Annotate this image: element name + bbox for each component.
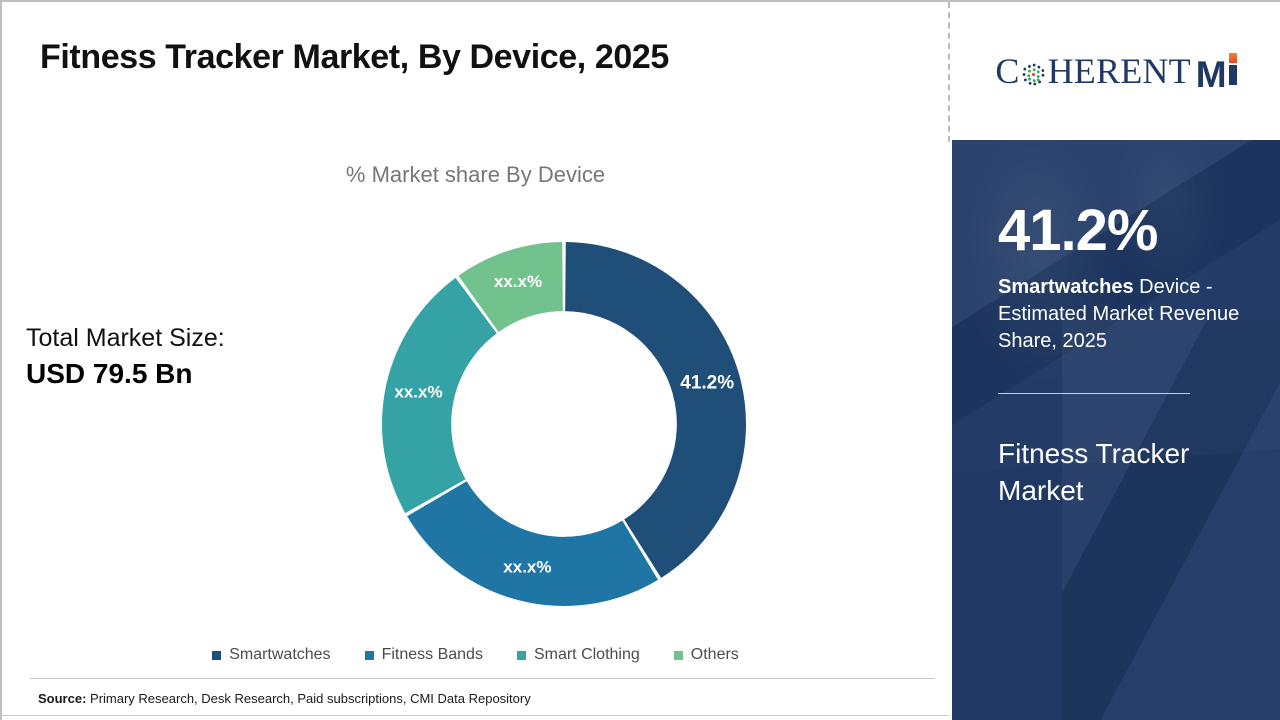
legend-swatch (212, 651, 221, 660)
legend-swatch (365, 651, 374, 660)
total-market-size-value: USD 79.5 Bn (26, 357, 225, 390)
donut-chart-svg: 41.2%xx.x%xx.x%xx.x% (376, 224, 752, 624)
donut-slice-label: xx.x% (503, 558, 551, 577)
legend-item[interactable]: Others (674, 646, 739, 664)
logo-text-herent: HERENT (1048, 53, 1191, 89)
page-title: Fitness Tracker Market, By Device, 2025 (40, 38, 669, 77)
donut-chart: 41.2%xx.x%xx.x%xx.x% (376, 224, 752, 624)
vertical-dashed-divider (948, 2, 950, 142)
total-market-size-label: Total Market Size: (26, 324, 225, 354)
source-divider (30, 678, 935, 679)
bottom-rule (2, 715, 949, 716)
donut-slices (382, 242, 746, 606)
legend-label: Others (691, 646, 739, 664)
logo-i-dot (1229, 53, 1237, 63)
legend-item[interactable]: Smart Clothing (517, 646, 640, 664)
logo-text-i (1227, 49, 1239, 87)
info-panel: 41.2% Smartwatches Device - Estimated Ma… (952, 140, 1280, 720)
chart-panel: Fitness Tracker Market, By Device, 2025 … (2, 2, 949, 720)
info-panel-content: 41.2% Smartwatches Device - Estimated Ma… (952, 140, 1280, 510)
donut-slice-label: xx.x% (394, 382, 442, 401)
donut-slice[interactable] (407, 481, 658, 606)
market-name: Fitness Tracker Market (998, 436, 1248, 510)
stat-description-strong: Smartwatches (998, 276, 1134, 298)
legend-item[interactable]: Smartwatches (212, 646, 330, 664)
legend-label: Fitness Bands (382, 646, 483, 664)
source-label: Source: (38, 691, 86, 706)
chart-legend: SmartwatchesFitness BandsSmart ClothingO… (2, 646, 949, 664)
legend-label: Smart Clothing (534, 646, 640, 664)
donut-slice-label: 41.2% (680, 372, 734, 393)
globe-grid-icon (1020, 61, 1047, 88)
legend-swatch (674, 651, 683, 660)
infographic-page: Fitness Tracker Market, By Device, 2025 … (0, 0, 1280, 720)
donut-slice-label: xx.x% (494, 272, 542, 291)
logo-area: C (952, 2, 1280, 140)
logo-text-m: M (1196, 56, 1227, 93)
stat-description: Smartwatches Device - Estimated Market R… (998, 274, 1248, 355)
logo-text-mi: M (1196, 49, 1239, 93)
source-text: Primary Research, Desk Research, Paid su… (86, 691, 530, 706)
donut-slice[interactable] (565, 242, 746, 578)
panel-divider (998, 393, 1190, 394)
coherentmi-logo: C (995, 48, 1238, 94)
stat-value: 41.2% (998, 202, 1248, 260)
logo-text-c: C (995, 53, 1019, 89)
logo-i-stem (1229, 65, 1237, 85)
legend-swatch (517, 651, 526, 660)
legend-item[interactable]: Fitness Bands (365, 646, 483, 664)
source-line: Source: Primary Research, Desk Research,… (38, 691, 531, 706)
total-market-size-block: Total Market Size: USD 79.5 Bn (26, 324, 225, 390)
legend-label: Smartwatches (229, 646, 330, 664)
chart-subtitle: % Market share By Device (2, 162, 949, 188)
